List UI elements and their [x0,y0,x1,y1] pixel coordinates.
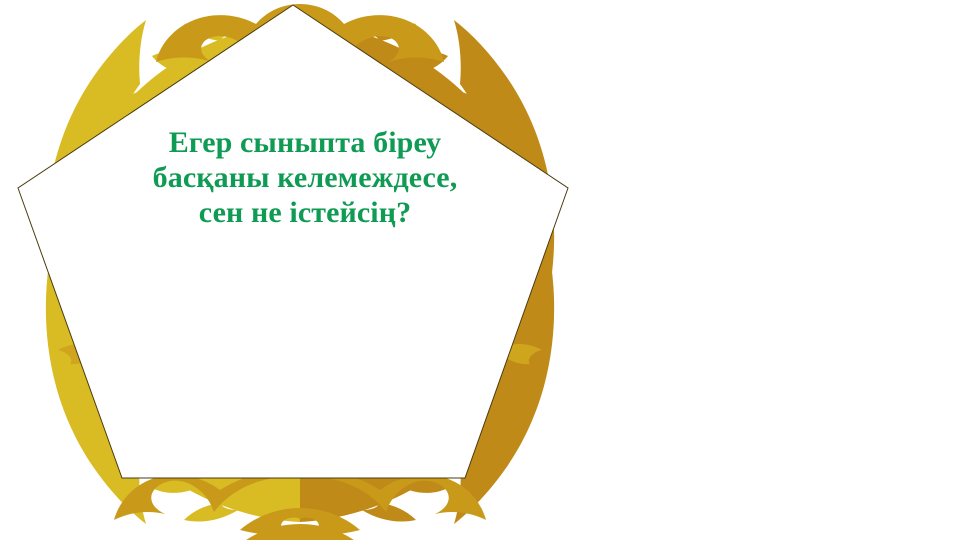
question-line-1: Егер сыныпта біреу [60,126,550,161]
pentagon-shape [0,0,960,540]
question-line-2: басқаны келемеждесе, [60,161,550,196]
question-text-block: Егер сыныпта біреу басқаны келемеждесе, … [60,126,550,230]
pentagon-outline [18,5,568,478]
question-line-3: сен не істейсің? [60,196,550,231]
slide-canvas: Егер сыныпта біреу басқаны келемеждесе, … [0,0,960,540]
